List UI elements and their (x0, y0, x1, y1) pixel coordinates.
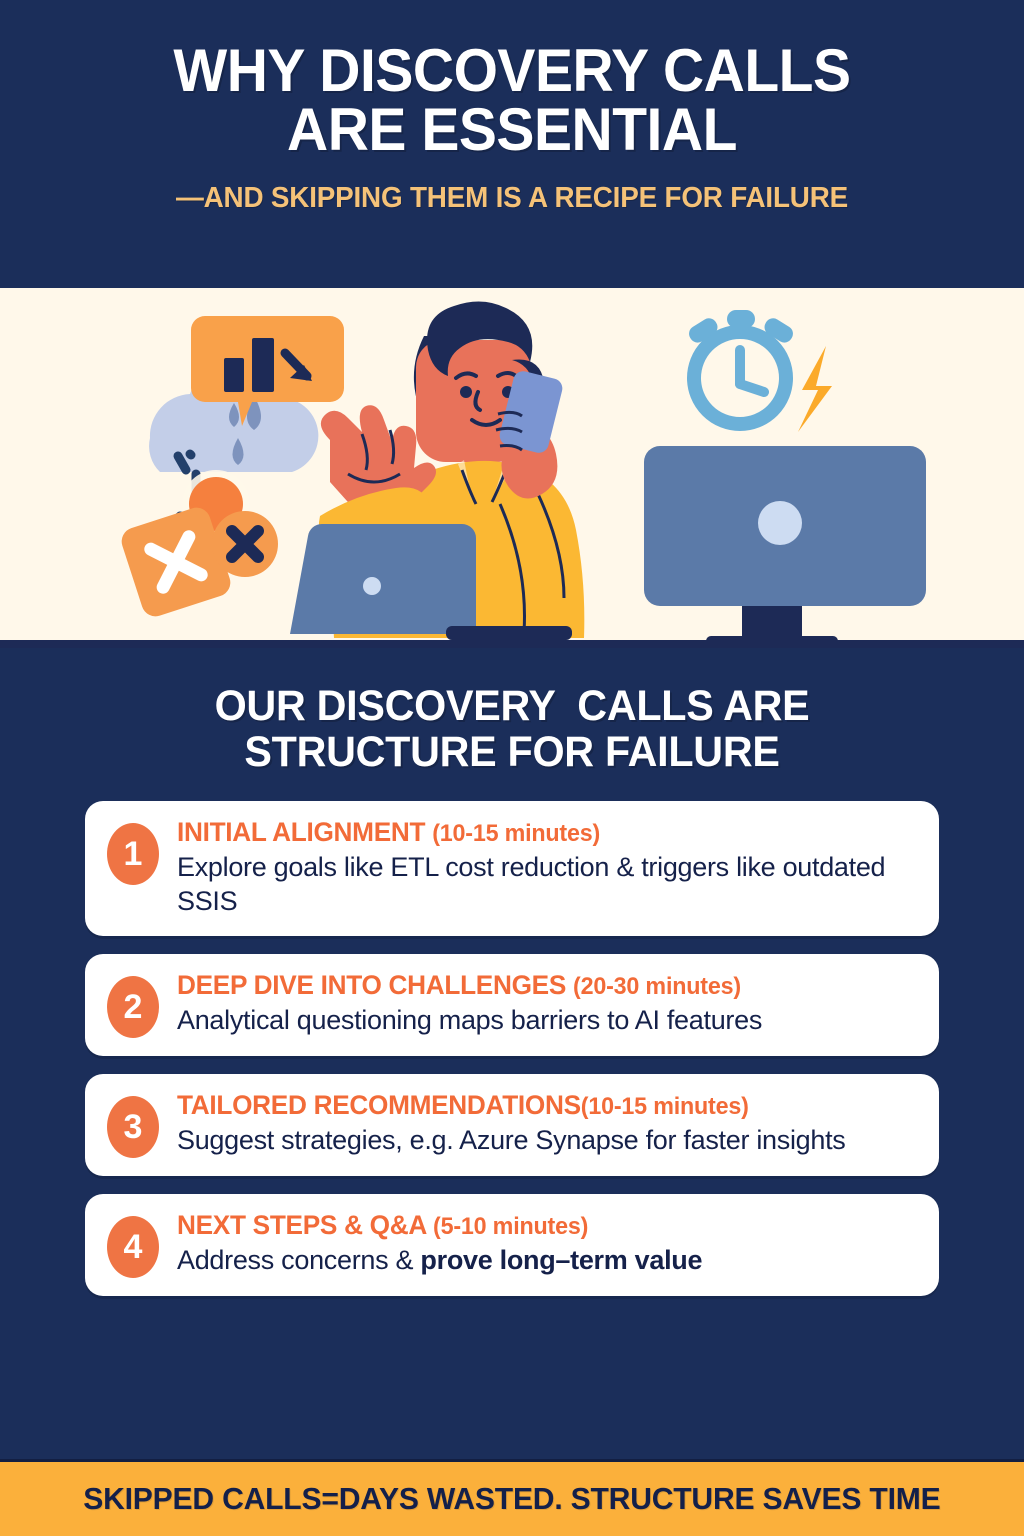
step-duration: (5-10 minutes) (433, 1213, 588, 1240)
step-content: TAILORED RECOMMENDATIONS(10-15 minutes) … (177, 1090, 913, 1157)
section-heading: OUR DISCOVERY CALLS ARE STRUCTURE FOR FA… (0, 648, 1024, 775)
step-content: NEXT STEPS & Q&A (5-10 minutes) Address … (177, 1210, 913, 1277)
step-title-gap (426, 1210, 433, 1240)
steps-list: 1 INITIAL ALIGNMENT (10-15 minutes) Expl… (0, 775, 1024, 1459)
section-heading-line-1: OUR DISCOVERY CALLS ARE (78, 684, 946, 730)
step-description-text: Address concerns & (177, 1245, 420, 1275)
title-line-2: ARE ESSENTIAL (64, 101, 961, 160)
step-duration: (10-15 minutes) (432, 820, 600, 847)
step-description: Address concerns & prove long–term value (177, 1244, 913, 1277)
illustration-band (0, 288, 1024, 648)
step-description: Suggest strategies, e.g. Azure Synapse f… (177, 1124, 913, 1157)
step-content: INITIAL ALIGNMENT (10-15 minutes) Explor… (177, 817, 913, 918)
infographic-poster: WHY DISCOVERY CALLS ARE ESSENTIAL —AND S… (0, 0, 1024, 1536)
step-description-text: Suggest strategies, e.g. Azure Synapse f… (177, 1125, 845, 1155)
step-title: TAILORED RECOMMENDATIONS (177, 1090, 581, 1120)
step-title-row: TAILORED RECOMMENDATIONS(10-15 minutes) (177, 1090, 891, 1121)
page-title: WHY DISCOVERY CALLS ARE ESSENTIAL (64, 42, 961, 160)
step-description: Explore goals like ETL cost reduction & … (177, 851, 913, 918)
step-title: NEXT STEPS & Q&A (177, 1210, 426, 1240)
step-number-badge: 3 (107, 1096, 159, 1158)
hero-illustration (0, 288, 1024, 648)
step-description: Analytical questioning maps barriers to … (177, 1004, 913, 1037)
step-number-badge: 2 (107, 976, 159, 1038)
list-item[interactable]: 3 TAILORED RECOMMENDATIONS(10-15 minutes… (85, 1074, 939, 1176)
step-duration: (20-30 minutes) (573, 973, 741, 1000)
step-title: INITIAL ALIGNMENT (177, 817, 425, 847)
step-title-row: NEXT STEPS & Q&A (5-10 minutes) (177, 1210, 891, 1241)
step-description-text: Explore goals like ETL cost reduction & … (177, 852, 885, 915)
step-duration: (10-15 minutes) (581, 1093, 749, 1120)
footer-banner: SKIPPED CALLS=DAYS WASTED. STRUCTURE SAV… (0, 1459, 1024, 1536)
step-title: DEEP DIVE INTO CHALLENGES (177, 970, 566, 1000)
step-number-badge: 1 (107, 823, 159, 885)
page-subtitle: —AND SKIPPING THEM IS A RECIPE FOR FAILU… (59, 182, 965, 215)
title-line-1: WHY DISCOVERY CALLS (173, 37, 850, 104)
section-heading-line-2: STRUCTURE FOR FAILURE (78, 730, 946, 776)
step-content: DEEP DIVE INTO CHALLENGES (20-30 minutes… (177, 970, 913, 1037)
step-title-row: INITIAL ALIGNMENT (10-15 minutes) (177, 817, 891, 848)
list-item[interactable]: 2 DEEP DIVE INTO CHALLENGES (20-30 minut… (85, 954, 939, 1056)
step-number-badge: 4 (107, 1216, 159, 1278)
footer-text: SKIPPED CALLS=DAYS WASTED. STRUCTURE SAV… (83, 1481, 940, 1517)
list-item[interactable]: 4 NEXT STEPS & Q&A (5-10 minutes) Addres… (85, 1194, 939, 1296)
x-mark-circle-icon (212, 511, 278, 577)
list-item[interactable]: 1 INITIAL ALIGNMENT (10-15 minutes) Expl… (85, 801, 939, 936)
step-description-text: Analytical questioning maps barriers to … (177, 1005, 762, 1035)
header-section: WHY DISCOVERY CALLS ARE ESSENTIAL —AND S… (0, 0, 1024, 288)
step-title-row: DEEP DIVE INTO CHALLENGES (20-30 minutes… (177, 970, 891, 1001)
step-description-bold: prove long–term value (420, 1245, 702, 1275)
